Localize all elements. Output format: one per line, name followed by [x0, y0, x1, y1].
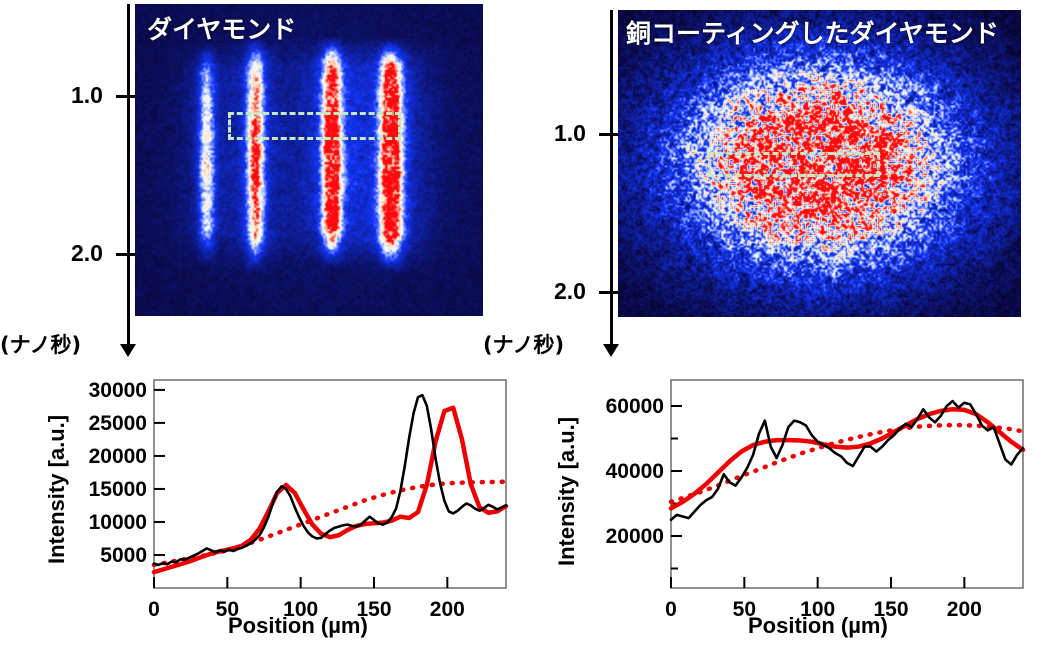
streak-canvas-diamond	[135, 4, 483, 316]
lineout-svg-left: 5000100001500020000250003000005010015020…	[36, 366, 520, 649]
y-tick-label: 30000	[89, 379, 147, 402]
time-axis-unit-label: (ナノ秒)	[0, 329, 81, 359]
lineout-plot-diamond: Intensity [a.u.] Position (µm) 500010000…	[36, 366, 520, 649]
y-tick-label: 25000	[89, 412, 147, 435]
time-axis-left: 1.0 2.0 (ナノ秒)	[0, 0, 135, 360]
time-axis-tick-label-1: 1.0	[554, 120, 586, 147]
y-tick-label: 20000	[606, 525, 664, 548]
y-tick-label: 60000	[606, 395, 664, 418]
series-measured	[154, 395, 506, 565]
y-axis-title-right: Intensity [a.u.]	[554, 417, 580, 566]
time-axis-tick-label-2: 2.0	[71, 240, 103, 267]
x-axis-title-right: Position (µm)	[748, 613, 888, 639]
time-axis-arrow-icon	[603, 344, 619, 357]
x-axis-title-left: Position (µm)	[228, 613, 368, 639]
time-axis-right: 1.0 2.0 (ナノ秒)	[483, 0, 618, 360]
time-axis-tick-label-2: 2.0	[554, 278, 586, 305]
streak-image-copper-coated-diamond: 銅コーティングしたダイヤモンド	[618, 10, 1021, 317]
time-axis-tick-label-1: 1.0	[71, 82, 103, 109]
time-axis-line	[127, 4, 130, 344]
x-tick-label: 200	[947, 598, 982, 621]
y-tick-label: 20000	[89, 445, 147, 468]
y-tick-label: 10000	[89, 511, 147, 534]
y-tick-label: 15000	[89, 478, 147, 501]
lineout-svg-right: 200004000060000050100150200	[546, 366, 1037, 649]
series-measured	[671, 401, 1023, 520]
streak-image-diamond: ダイヤモンド	[135, 4, 483, 316]
time-axis-arrow-icon	[120, 344, 136, 357]
time-axis-unit-label: (ナノ秒)	[483, 329, 564, 359]
series-background	[154, 482, 506, 565]
y-axis-title-left: Intensity [a.u.]	[44, 415, 70, 564]
streak-title-diamond: ダイヤモンド	[147, 10, 296, 46]
roi-dashed-box-copper-coated-diamond	[708, 152, 880, 177]
roi-dashed-box-diamond	[228, 112, 401, 140]
x-tick-label: 0	[665, 598, 677, 621]
y-tick-label: 40000	[606, 460, 664, 483]
lineout-plot-copper-coated-diamond: Intensity [a.u.] Position (µm) 200004000…	[546, 366, 1037, 649]
y-tick-label: 5000	[100, 544, 147, 567]
streak-title-copper-coated-diamond: 銅コーティングしたダイヤモンド	[626, 14, 999, 50]
x-tick-label: 0	[148, 598, 160, 621]
x-tick-label: 200	[430, 598, 465, 621]
